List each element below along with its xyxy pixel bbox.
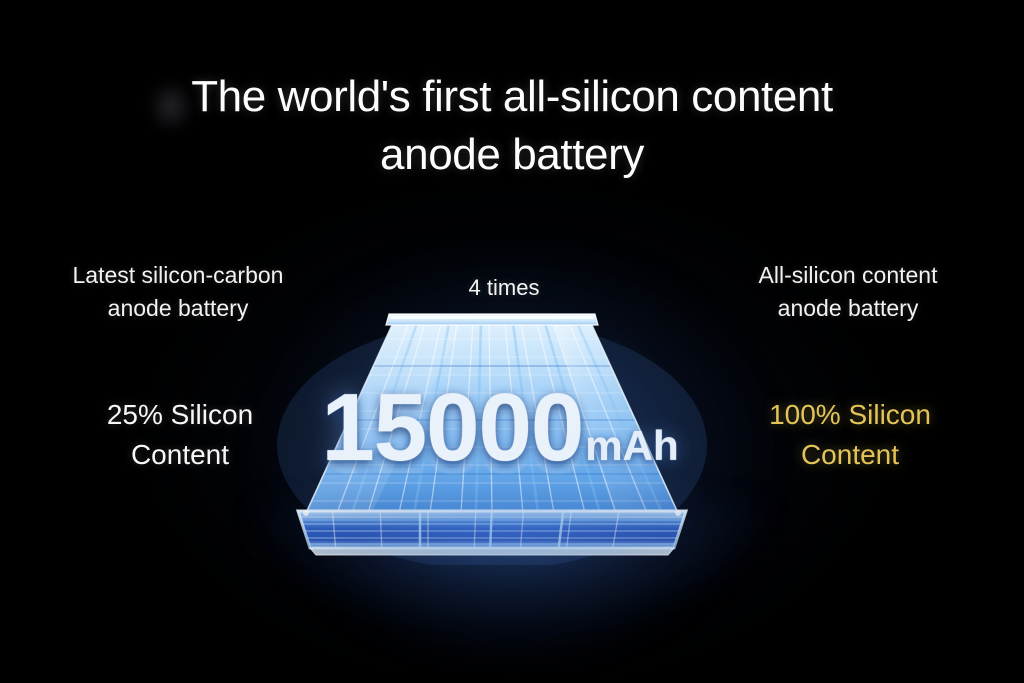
presentation-slide: The world's first all-silicon content an… [0, 0, 1024, 683]
capacity-reflection: 15000 mAh [270, 439, 730, 482]
battery-3d-icon [262, 305, 722, 565]
capacity-readout: 15000 mAh [270, 380, 730, 490]
left-silicon-content-stat: 25% Silicon Content [30, 395, 330, 475]
capacity-reflection-value: 15000 [321, 422, 583, 482]
capacity-value: 15000 [321, 380, 583, 476]
ambient-glow-core [262, 250, 762, 650]
right-battery-caption: All-silicon content anode battery [692, 259, 1004, 325]
capacity-unit: mAh [585, 425, 678, 467]
multiplier-label: 4 times [404, 273, 604, 303]
right-silicon-content-stat: 100% Silicon Content [700, 395, 1000, 475]
ambient-glow-floor [250, 500, 770, 620]
capacity-reflection-unit: mAh [585, 428, 678, 454]
left-battery-caption: Latest silicon-carbon anode battery [22, 259, 334, 325]
page-title: The world's first all-silicon content an… [0, 68, 1024, 184]
